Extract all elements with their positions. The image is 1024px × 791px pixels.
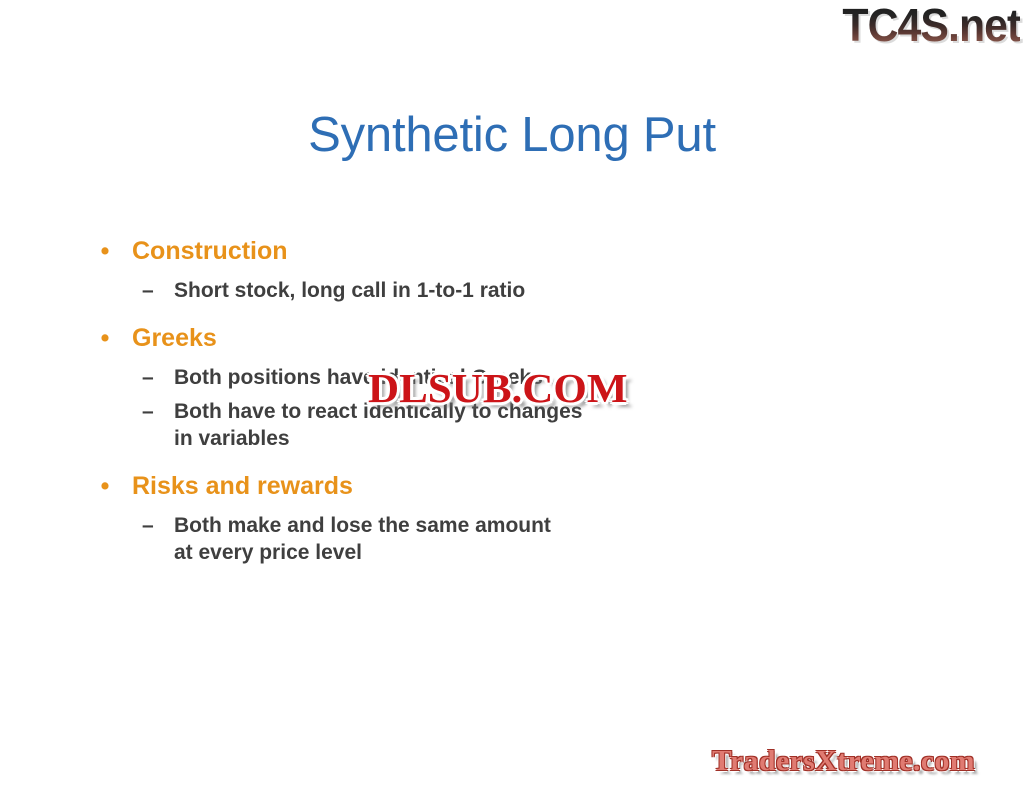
bullet-level1-label: Construction <box>132 237 288 265</box>
bullet-level1-greeks: • Greeks <box>92 319 732 357</box>
tc4s-logo: TC4S.net <box>842 2 1020 48</box>
bullet-dot-icon: • <box>98 232 112 270</box>
bullet-level1-construction: • Construction <box>92 232 732 270</box>
slide-title: Synthetic Long Put <box>0 105 1024 165</box>
tradersxtreme-watermark: TradersXtreme.com <box>712 746 975 777</box>
group-spacer <box>92 304 732 315</box>
bullet-level2-label-cont: in variables <box>174 425 732 452</box>
bullet-level2-label: Both make and lose the same amount <box>174 514 551 537</box>
bullet-level2-item: – Short stock, long call in 1-to-1 ratio <box>92 277 732 304</box>
bullet-dot-icon: • <box>98 319 112 357</box>
bullet-dot-icon: • <box>98 467 112 505</box>
bullet-dash-icon: – <box>142 398 160 425</box>
bullet-dash-icon: – <box>142 512 160 539</box>
bullet-level1-risks-and-rewards: • Risks and rewards <box>92 467 732 505</box>
presentation-slide: TC4S.net TC4S.net Synthetic Long Put • C… <box>0 0 1024 791</box>
bullet-level2-label-cont: at every price level <box>174 539 732 566</box>
bullet-dash-icon: – <box>142 277 160 304</box>
bullet-level2-label: Short stock, long call in 1-to-1 ratio <box>174 279 525 302</box>
dlsub-watermark: DLSUB.COM <box>368 368 628 409</box>
bullet-level1-label: Greeks <box>132 324 217 352</box>
bullet-level2-item: – Both make and lose the same amount at … <box>92 512 732 566</box>
bullet-dash-icon: – <box>142 364 160 391</box>
group-spacer <box>92 452 732 463</box>
bullet-level1-label: Risks and rewards <box>132 472 353 500</box>
